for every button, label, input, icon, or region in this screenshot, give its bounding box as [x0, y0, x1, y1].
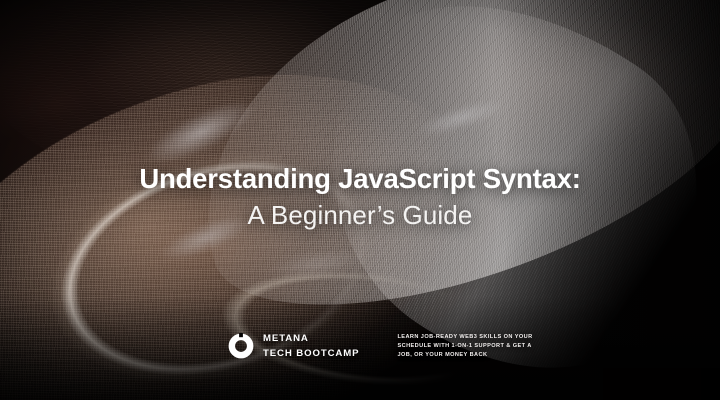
brand-name-line2: TECH BOOTCAMP [263, 347, 359, 362]
banner-content: Understanding JavaScript Syntax: A Begin… [0, 0, 720, 400]
tagline-line1: LEARN JOB-READY WEB3 SKILLS ON YOUR [397, 333, 532, 342]
brand-tagline: LEARN JOB-READY WEB3 SKILLS ON YOUR SCHE… [397, 329, 532, 360]
banner-title: Understanding JavaScript Syntax: A Begin… [0, 163, 720, 233]
brand-name-line1: METANA [263, 332, 359, 347]
brand-lockup: METANA TECH BOOTCAMP LEARN JOB-READY WEB… [228, 329, 533, 361]
metana-ring-logo-icon [228, 333, 254, 359]
brand-name: METANA TECH BOOTCAMP [263, 329, 359, 361]
promo-banner: Understanding JavaScript Syntax: A Begin… [0, 0, 720, 400]
title-line-secondary: A Beginner’s Guide [0, 199, 720, 232]
tagline-line2: SCHEDULE WITH 1-ON-1 SUPPORT & GET A [397, 342, 532, 351]
tagline-line3: JOB, OR YOUR MONEY BACK [397, 351, 532, 360]
title-line-primary: Understanding JavaScript Syntax: [0, 163, 720, 195]
